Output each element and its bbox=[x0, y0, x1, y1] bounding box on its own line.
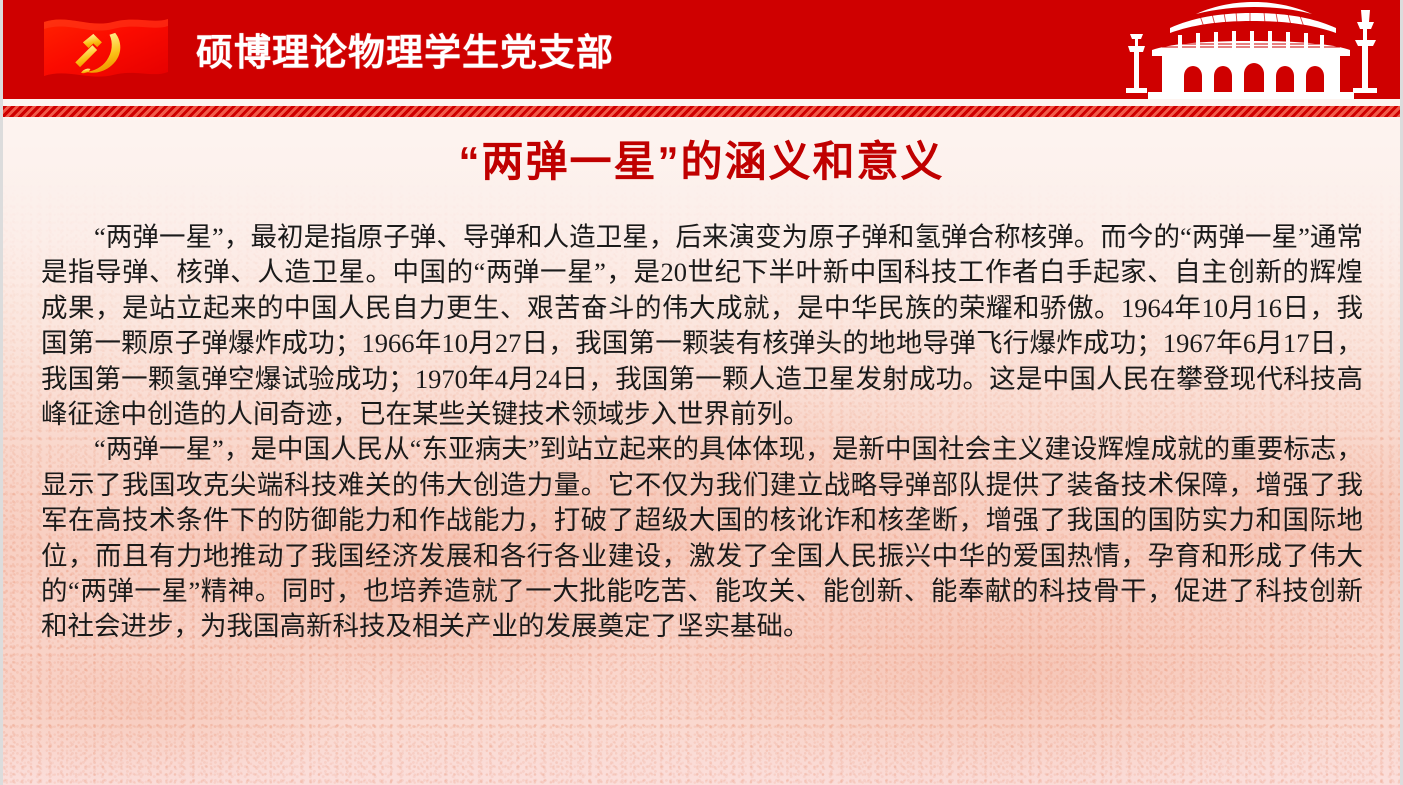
tiananmen-gate-icon bbox=[1100, 0, 1400, 99]
paragraph: “两弹一星”，是中国人民从“东亚病夫”到站立起来的具体体现，是新中国社会主义建设… bbox=[41, 432, 1363, 644]
header-stripe-divider bbox=[3, 106, 1400, 117]
party-flag-icon bbox=[41, 14, 171, 88]
page-title: “两弹一星”的涵义和意义 bbox=[3, 128, 1400, 189]
presentation-slide: 硕博理论物理学生党支部 bbox=[0, 0, 1403, 785]
body-content: “两弹一星”，最初是指原子弹、导弹和人造卫星，后来演变为原子弹和氢弹合称核弹。而… bbox=[41, 220, 1363, 645]
slide-header-bar: 硕博理论物理学生党支部 bbox=[3, 0, 1400, 99]
paragraph: “两弹一星”，最初是指原子弹、导弹和人造卫星，后来演变为原子弹和氢弹合称核弹。而… bbox=[41, 220, 1363, 432]
header-title: 硕博理论物理学生党支部 bbox=[196, 21, 614, 75]
